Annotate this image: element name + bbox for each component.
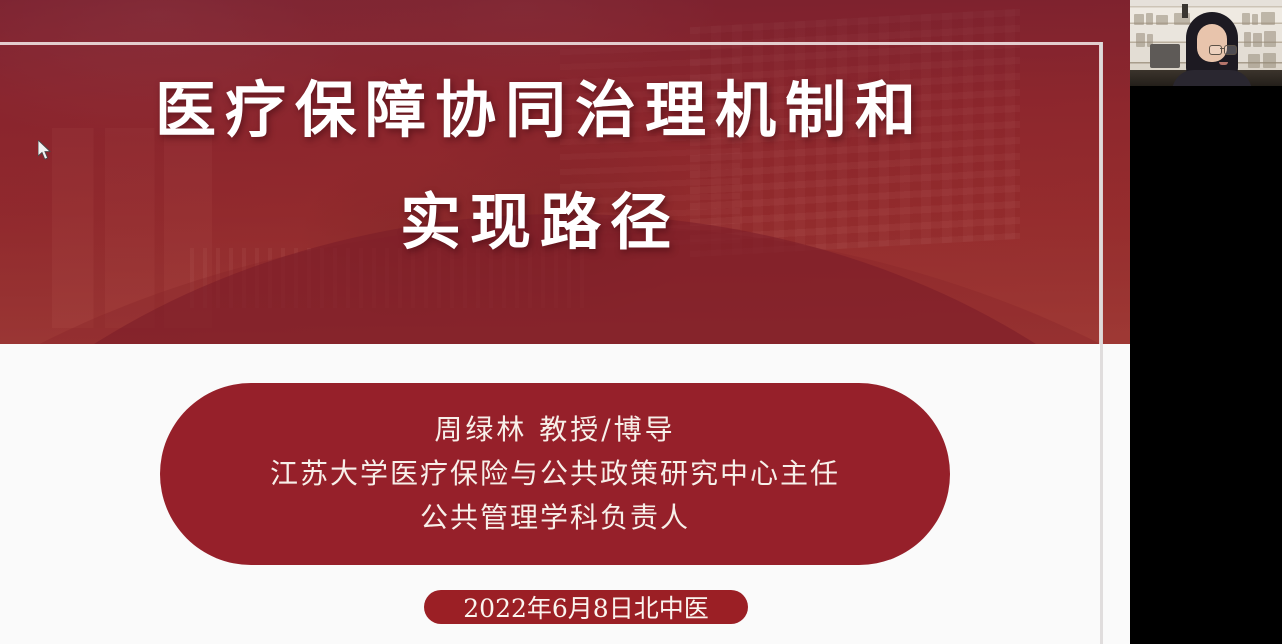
shelf-book: [1134, 14, 1144, 25]
screen-root: 医疗保障协同治理机制和 实现路径 周绿林 教授/博导 江苏大学医疗保险与公共政策…: [0, 0, 1282, 644]
shelf-frame: [1263, 53, 1276, 68]
participant-webcam-tile[interactable]: [1130, 0, 1282, 86]
glasses-lens-left: [1209, 45, 1222, 55]
presenter-name: 周绿林 教授/博导: [434, 410, 675, 450]
shelf-frame: [1248, 54, 1260, 68]
glasses-bridge: [1220, 48, 1225, 49]
date-badge: 2022年6月8日北中医: [424, 590, 748, 624]
presenter-card: 周绿林 教授/博导 江苏大学医疗保险与公共政策研究中心主任 公共管理学科负责人: [160, 383, 950, 565]
desk-monitor: [1150, 44, 1180, 68]
glasses-lens-right: [1224, 45, 1237, 55]
participant-shoulders: [1172, 70, 1252, 86]
shelf-book: [1264, 31, 1276, 47]
slide-title-line-2: 实现路径: [0, 192, 1080, 253]
shelf-box: [1156, 15, 1168, 25]
slide-title-line-1: 医疗保障协同治理机制和: [0, 80, 1080, 141]
slide-lower-section: 周绿林 教授/博导 江苏大学医疗保险与公共政策研究中心主任 公共管理学科负责人 …: [0, 344, 1130, 644]
date-badge-label: 2022年6月8日北中医: [463, 589, 708, 625]
slide-hero-banner: 医疗保障协同治理机制和 实现路径: [0, 0, 1130, 344]
slide-right-edge-line: [1100, 42, 1103, 644]
shelf-book: [1253, 33, 1262, 47]
shelf-book: [1146, 13, 1153, 25]
presenter-affiliation: 江苏大学医疗保险与公共政策研究中心主任: [270, 454, 840, 494]
participant-face: [1197, 24, 1227, 62]
shared-slide-area[interactable]: 医疗保障协同治理机制和 实现路径 周绿林 教授/博导 江苏大学医疗保险与公共政策…: [0, 0, 1130, 644]
presenter-role: 公共管理学科负责人: [420, 498, 690, 538]
shelf-book: [1136, 33, 1145, 47]
participant-avatar: [1186, 12, 1238, 86]
shelf-book: [1244, 32, 1251, 47]
shelf-book: [1242, 13, 1250, 25]
shelf-book: [1252, 14, 1258, 25]
participant-video-column[interactable]: [1130, 0, 1282, 644]
video-column-empty-space: [1130, 86, 1282, 644]
shelf-box: [1261, 12, 1275, 25]
